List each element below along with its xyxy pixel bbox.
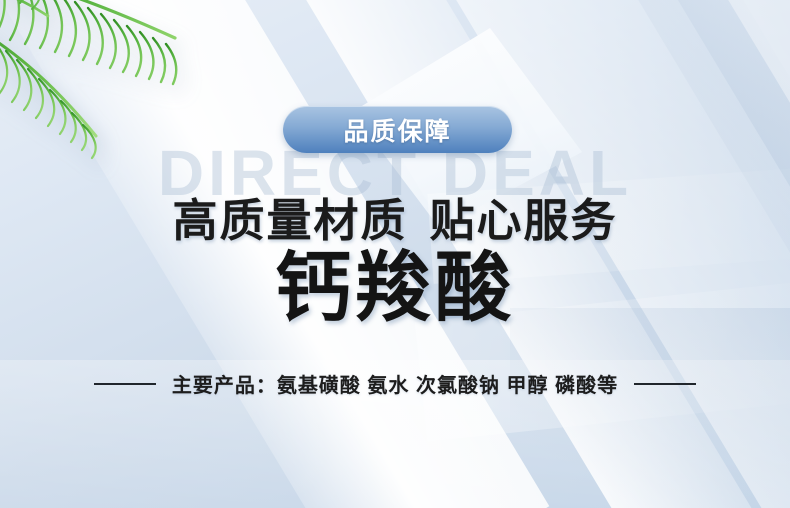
headline-part-1: 高质量材质 [172, 195, 407, 246]
footer-rule-left [94, 383, 156, 385]
footer-rule-right [634, 383, 696, 385]
headline-part-2: 贴心服务 [430, 195, 618, 246]
quality-badge-label: 品质保障 [343, 112, 451, 148]
footer: 主要产品：氨基磺酸 氨水 次氯酸钠 甲醇 磷酸等 [0, 369, 790, 398]
headline: 高质量材质贴心服务 [0, 184, 790, 249]
quality-badge: 品质保障 [283, 106, 512, 153]
promo-banner: DIRECT DEAL 品质保障 高质量材质贴心服务 钙羧酸 主要产品：氨基磺酸… [0, 0, 790, 508]
background-corner-shade [510, 308, 790, 508]
product-name: 钙羧酸 [0, 249, 790, 329]
footer-products-text: 主要产品：氨基磺酸 氨水 次氯酸钠 甲醇 磷酸等 [172, 369, 618, 398]
